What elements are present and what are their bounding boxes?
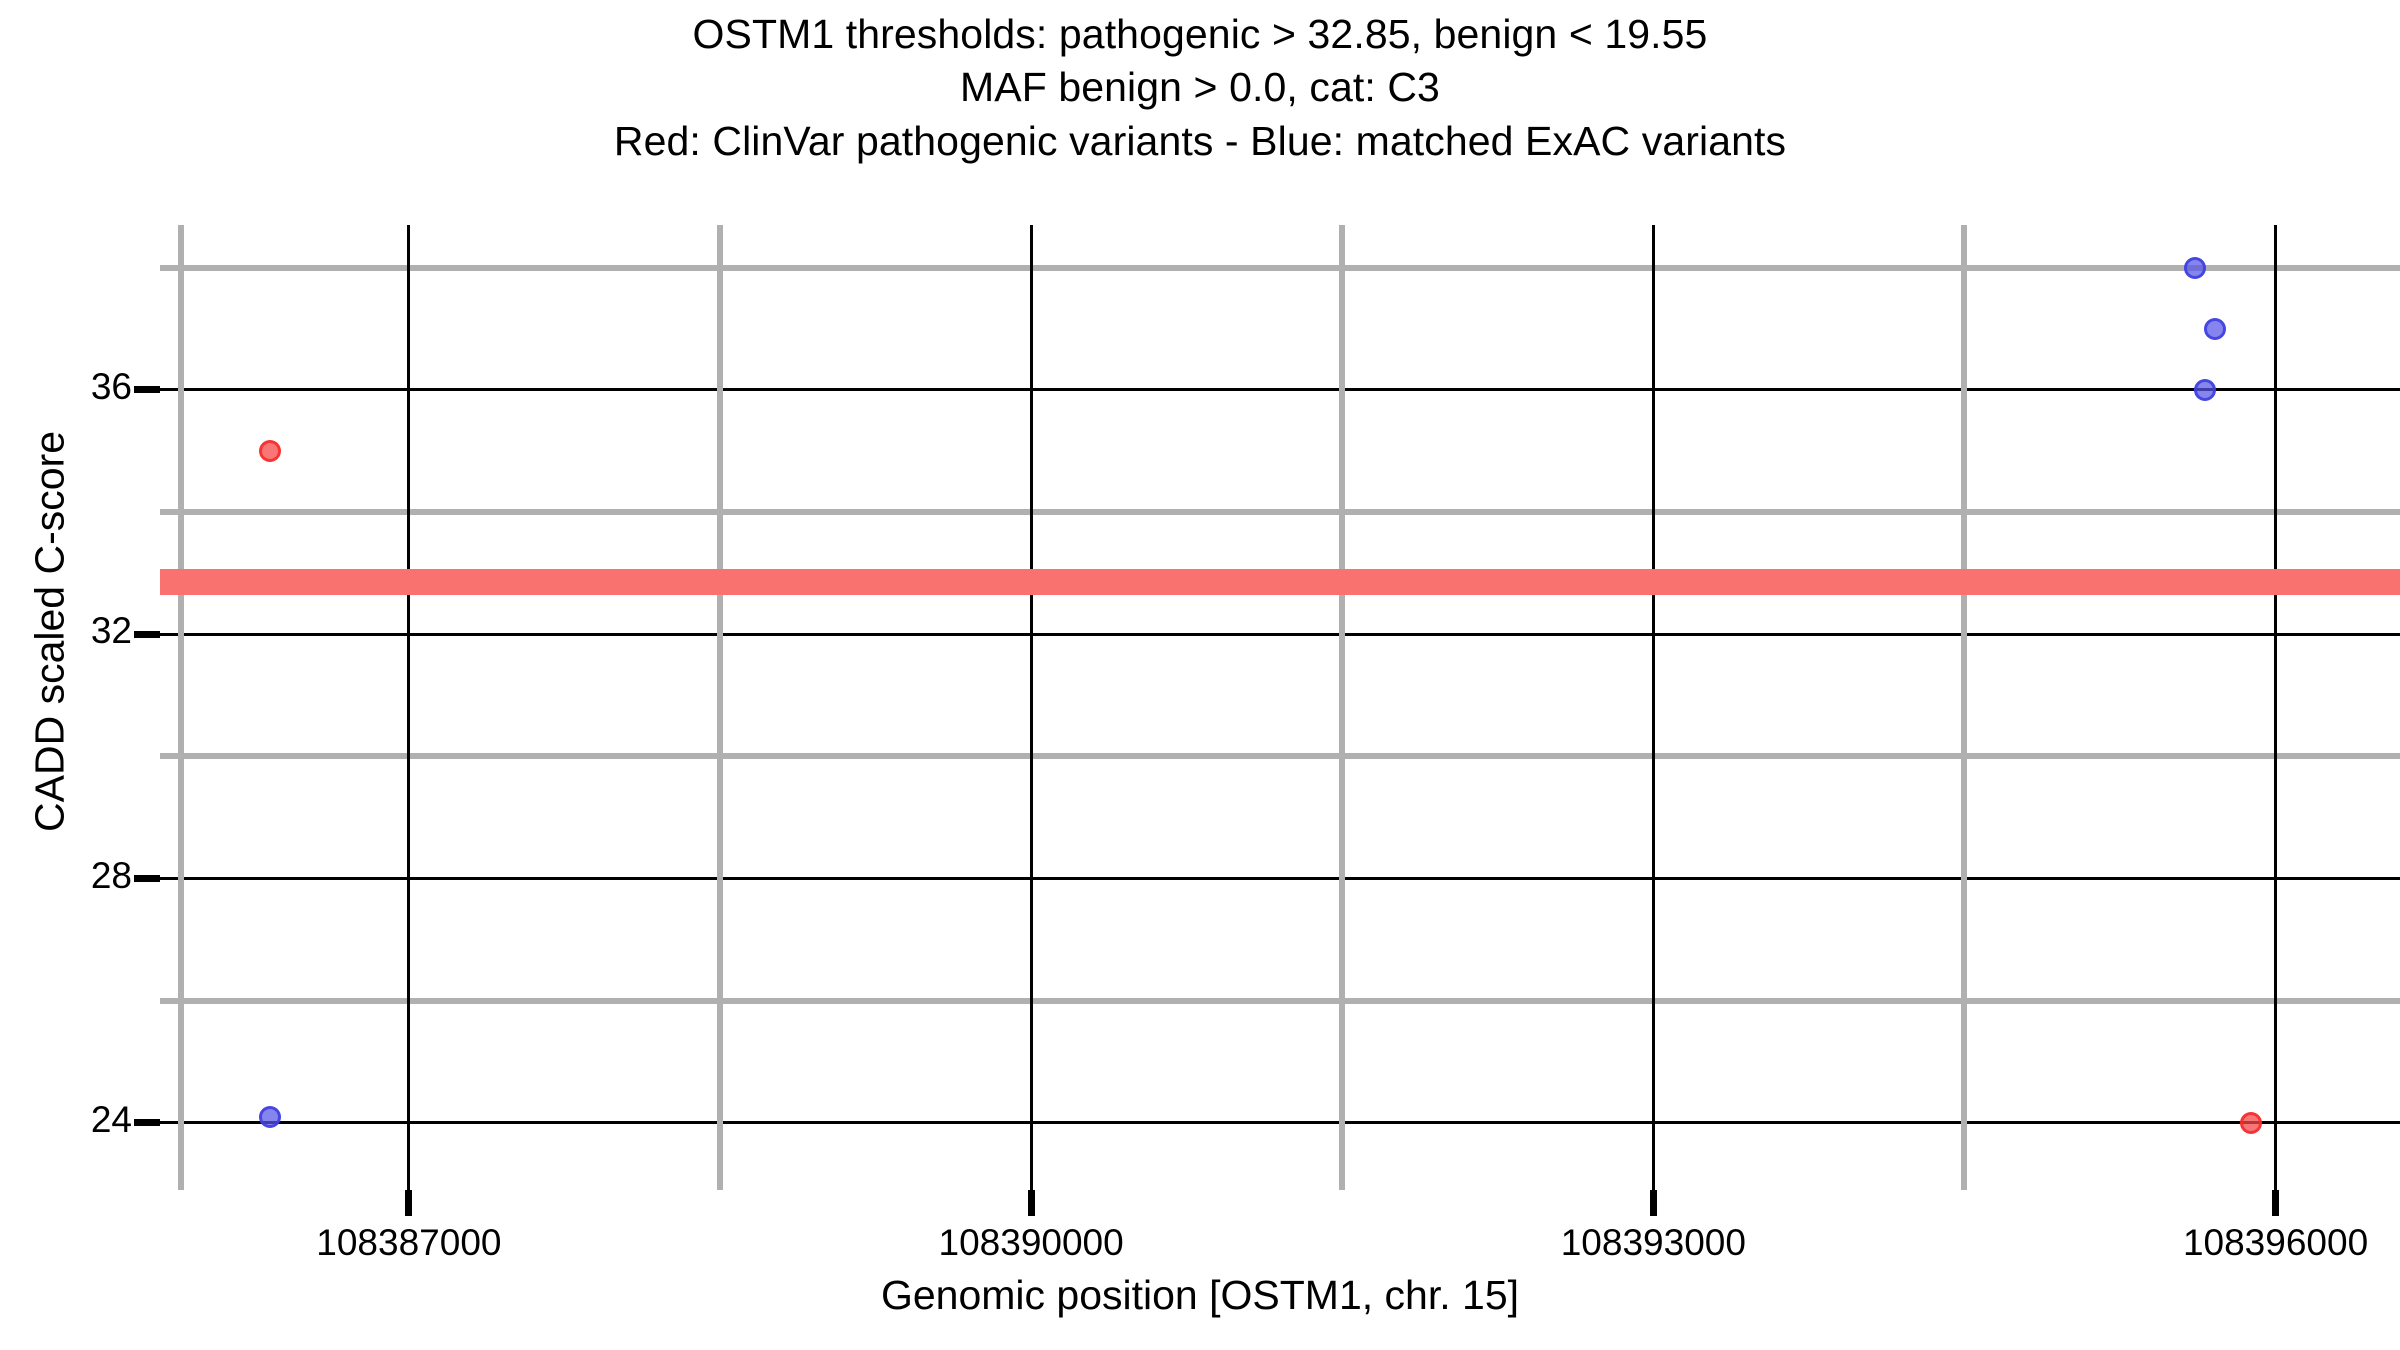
gridline-horizontal-minor	[160, 753, 2400, 759]
y-tick-label: 24	[91, 1099, 132, 1141]
y-tick-mark	[134, 386, 160, 393]
gridline-horizontal-major	[160, 633, 2400, 636]
gridline-vertical-minor	[1339, 225, 1345, 1190]
x-tick-mark	[2272, 1190, 2279, 1216]
y-tick-mark	[134, 875, 160, 882]
gridline-horizontal-minor	[160, 998, 2400, 1004]
y-tick-mark	[134, 1119, 160, 1126]
data-point-blue	[2194, 379, 2216, 401]
x-tick-mark	[405, 1190, 412, 1216]
chart-title: OSTM1 thresholds: pathogenic > 32.85, be…	[0, 8, 2400, 168]
gridline-horizontal-major	[160, 388, 2400, 391]
data-point-blue	[259, 1106, 281, 1128]
y-axis-label: CADD scaled C-score	[27, 222, 74, 1042]
data-point-blue	[2204, 318, 2226, 340]
x-axis-label: Genomic position [OSTM1, chr. 15]	[0, 1272, 2400, 1319]
gridline-horizontal-major	[160, 877, 2400, 880]
chart-title-line-1: OSTM1 thresholds: pathogenic > 32.85, be…	[0, 8, 2400, 61]
y-tick-label: 28	[91, 855, 132, 897]
gridline-horizontal-minor	[160, 265, 2400, 271]
x-tick-label: 108393000	[1561, 1222, 1746, 1264]
data-point-blue	[2184, 257, 2206, 279]
y-tick-label: 32	[91, 610, 132, 652]
y-tick-mark	[134, 631, 160, 638]
gridline-vertical-minor	[1961, 225, 1967, 1190]
x-tick-label: 108390000	[939, 1222, 1124, 1264]
data-point-red	[259, 440, 281, 462]
gridline-vertical-minor	[178, 225, 184, 1190]
x-tick-label: 108396000	[2183, 1222, 2368, 1264]
chart-title-line-3: Red: ClinVar pathogenic variants - Blue:…	[0, 115, 2400, 168]
gridline-vertical-major	[1030, 225, 1033, 1190]
data-point-red	[2240, 1112, 2262, 1134]
gridline-vertical-major	[2274, 225, 2277, 1190]
gridline-vertical-major	[407, 225, 410, 1190]
scatter-plot-figure: OSTM1 thresholds: pathogenic > 32.85, be…	[0, 0, 2400, 1350]
chart-title-line-2: MAF benign > 0.0, cat: C3	[0, 61, 2400, 114]
gridline-vertical-minor	[717, 225, 723, 1190]
x-tick-mark	[1028, 1190, 1035, 1216]
pathogenic-threshold-line	[160, 569, 2400, 595]
gridline-horizontal-major	[160, 1121, 2400, 1124]
plot-area	[160, 225, 2400, 1190]
x-tick-label: 108387000	[316, 1222, 501, 1264]
x-tick-mark	[1650, 1190, 1657, 1216]
gridline-vertical-major	[1652, 225, 1655, 1190]
y-tick-label: 36	[91, 366, 132, 408]
gridline-horizontal-minor	[160, 509, 2400, 515]
